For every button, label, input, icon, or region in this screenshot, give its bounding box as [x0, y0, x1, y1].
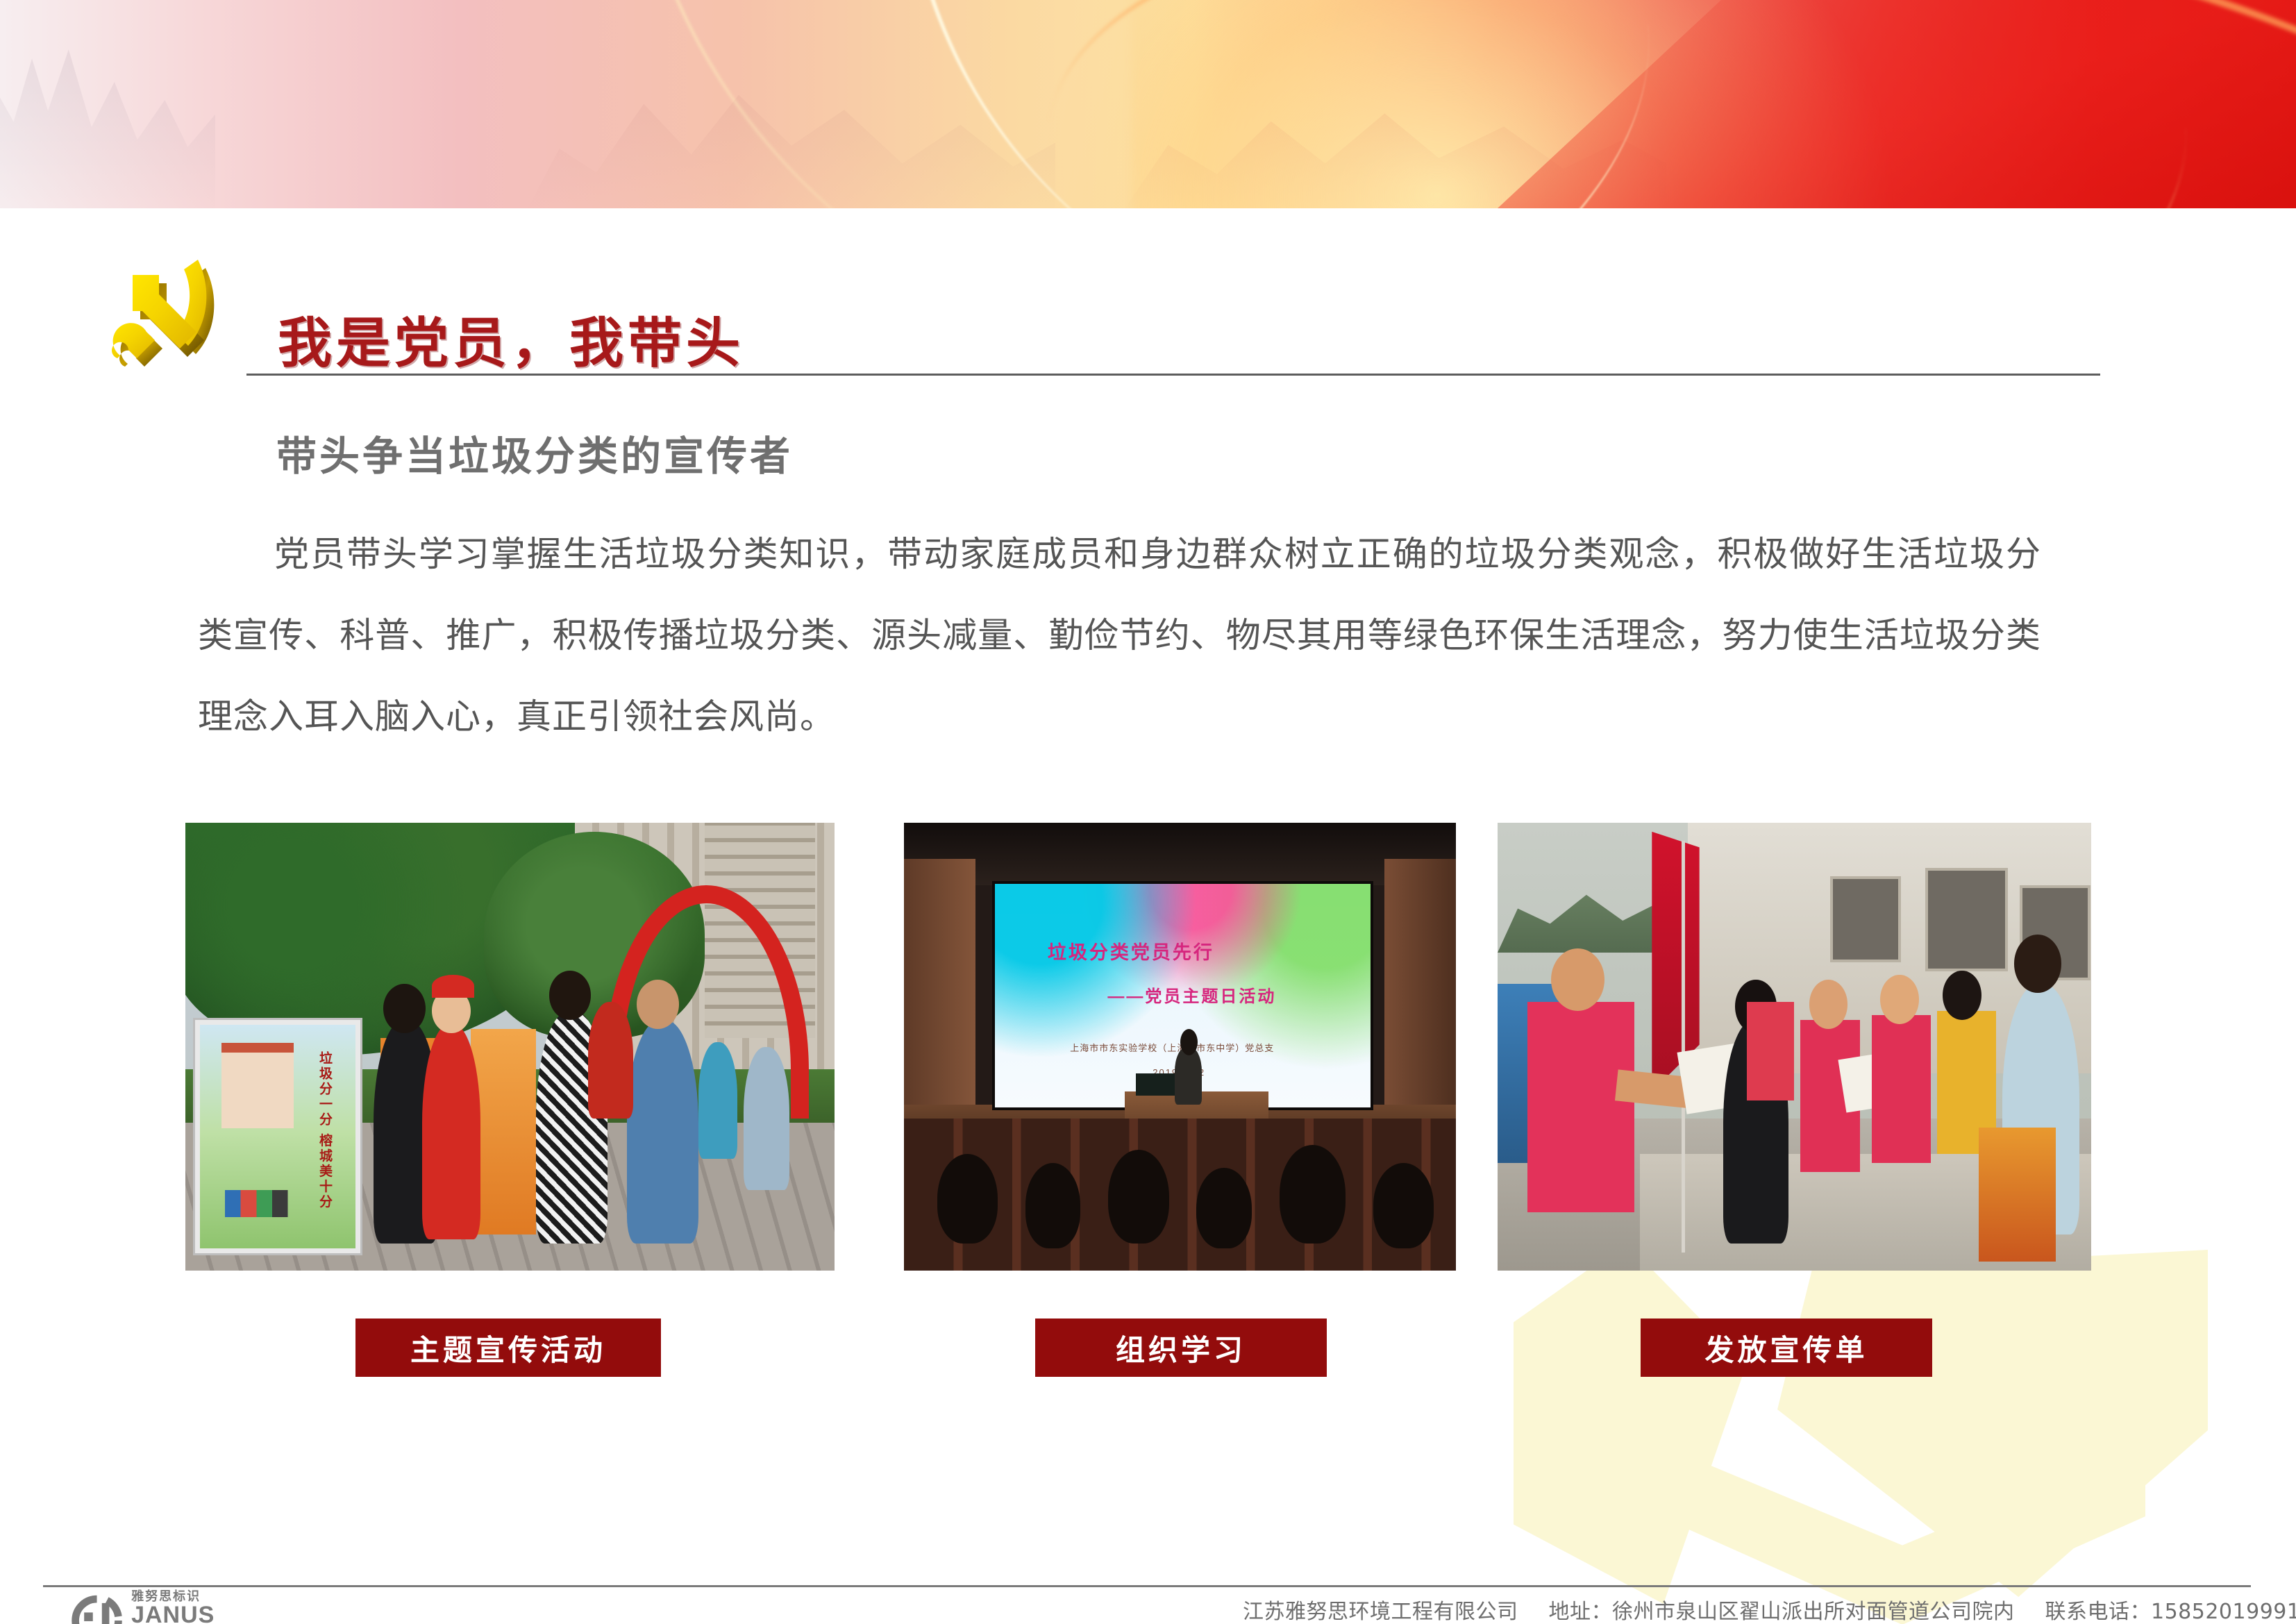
photo2-ceiling	[904, 823, 1456, 885]
logo-english-name: JANUS VISUAL	[131, 1603, 304, 1624]
photo-study-session: 垃圾分类党员先行 ——党员主题日活动 上海市市东实验学校（上海市市东中学）党总支…	[904, 823, 1456, 1271]
photo1-poster-slogan: 垃圾分一分 榕城美十分	[315, 1051, 334, 1209]
page-subtitle: 带头争当垃圾分类的宣传者	[276, 436, 793, 476]
photo1-orange-banner-panel-2	[471, 1029, 536, 1235]
photo3-man-head	[1551, 948, 1604, 1011]
slide-root: 我是党员，我带头 带头争当垃圾分类的宣传者 党员带头学习掌握生活垃圾分类知识，带…	[0, 0, 2296, 1624]
photo-street-campaign: 垃圾分一分 榕城美十分	[185, 823, 835, 1271]
janus-circle-icon	[68, 1594, 126, 1624]
caption-photo-study-session: 组织学习	[1035, 1319, 1327, 1377]
janus-visual-logo: 雅努思标识 JANUS VISUAL	[68, 1593, 304, 1624]
photo1-poster-recycling-bins	[225, 1190, 312, 1217]
photo2-audience-head	[1373, 1163, 1434, 1248]
photo3-man-red-vest	[1527, 1002, 1634, 1212]
photo2-speaker-head	[1180, 1029, 1198, 1056]
footer-company-name: 江苏雅努思环境工程有限公司	[1243, 1600, 1518, 1624]
photo3-student-head	[1943, 971, 1981, 1020]
photo1-person-black-shirt-head	[383, 984, 426, 1033]
photo2-laptop	[1136, 1073, 1175, 1096]
photo1-volunteer-red-vest	[422, 1024, 480, 1239]
photo2-screen-title: 垃圾分类党员先行	[1048, 937, 1214, 964]
footer-contact-info: 江苏雅努思环境工程有限公司地址：徐州市泉山区翟山派出所对面管道公司院内联系电话：…	[1243, 1594, 2296, 1624]
photo2-screen-subtitle: ——党员主题日活动	[1107, 982, 1276, 1007]
footer-divider	[43, 1585, 2251, 1587]
photo1-poster-board: 垃圾分一分 榕城美十分	[195, 1020, 360, 1254]
caption-photo-leaflet-distribution: 发放宣传单	[1641, 1319, 1932, 1377]
footer-address: 地址：徐州市泉山区翟山派出所对面管道公司院内	[1549, 1600, 2015, 1624]
photo1-man-blue-shirt-head	[637, 980, 679, 1029]
photo2-speaker	[1175, 1047, 1203, 1105]
title-divider	[246, 374, 2100, 376]
watermark-shape-sickle	[1777, 1250, 2208, 1597]
photo2-audience-head	[1280, 1145, 1346, 1244]
photo2-audience-head	[937, 1154, 998, 1244]
logo-en-bold: JANUS	[131, 1602, 215, 1624]
photo-leaflet-distribution	[1498, 823, 2091, 1271]
photo3-window	[1925, 868, 2008, 972]
photo2-audience-head	[1025, 1163, 1081, 1248]
party-emblem-watermark	[1430, 1236, 2249, 1624]
photo1-volunteer-red-cap	[432, 975, 474, 997]
photo3-volunteer-head	[1809, 980, 1848, 1029]
photo1-person-polkadot-head	[549, 971, 592, 1020]
header-banner-image	[0, 0, 2296, 208]
banner-light-ribbon-5	[1005, 0, 2296, 208]
photo2-screen-org: 上海市市东实验学校（上海市市东中学）党总支	[1070, 1041, 1274, 1054]
caption-photo-street-campaign: 主题宣传活动	[355, 1319, 661, 1377]
photo1-volunteer-background	[588, 1002, 633, 1119]
watermark-shape-hammer	[1514, 1243, 1888, 1604]
photo1-poster-house-art	[221, 1043, 293, 1129]
cpc-party-emblem-icon	[92, 251, 231, 397]
photo3-flag-pole	[1682, 841, 1685, 1253]
photo3-volunteer-red-vest	[1872, 1015, 1932, 1163]
page-title: 我是党员，我带头	[278, 317, 744, 371]
photo3-shopping-bag	[1979, 1128, 2056, 1262]
photo2-audience-head	[1108, 1150, 1168, 1244]
footer-phone: 联系电话：15852019991	[2045, 1600, 2296, 1624]
photo2-audience-head	[1196, 1168, 1252, 1248]
photo1-man-blue-shirt	[627, 1020, 698, 1244]
photo1-person-far-right	[744, 1047, 789, 1190]
photo3-woman-light-jacket-head	[2014, 935, 2061, 993]
body-paragraph: 党员带头学习掌握生活垃圾分类知识，带动家庭成员和身边群众树立正确的垃圾分类观念，…	[198, 514, 2041, 757]
photo3-volunteer-head	[1880, 975, 1919, 1024]
photo3-volunteer-background	[1747, 1002, 1794, 1100]
photo3-window	[1830, 876, 1901, 962]
photo1-person-teal	[698, 1042, 737, 1159]
